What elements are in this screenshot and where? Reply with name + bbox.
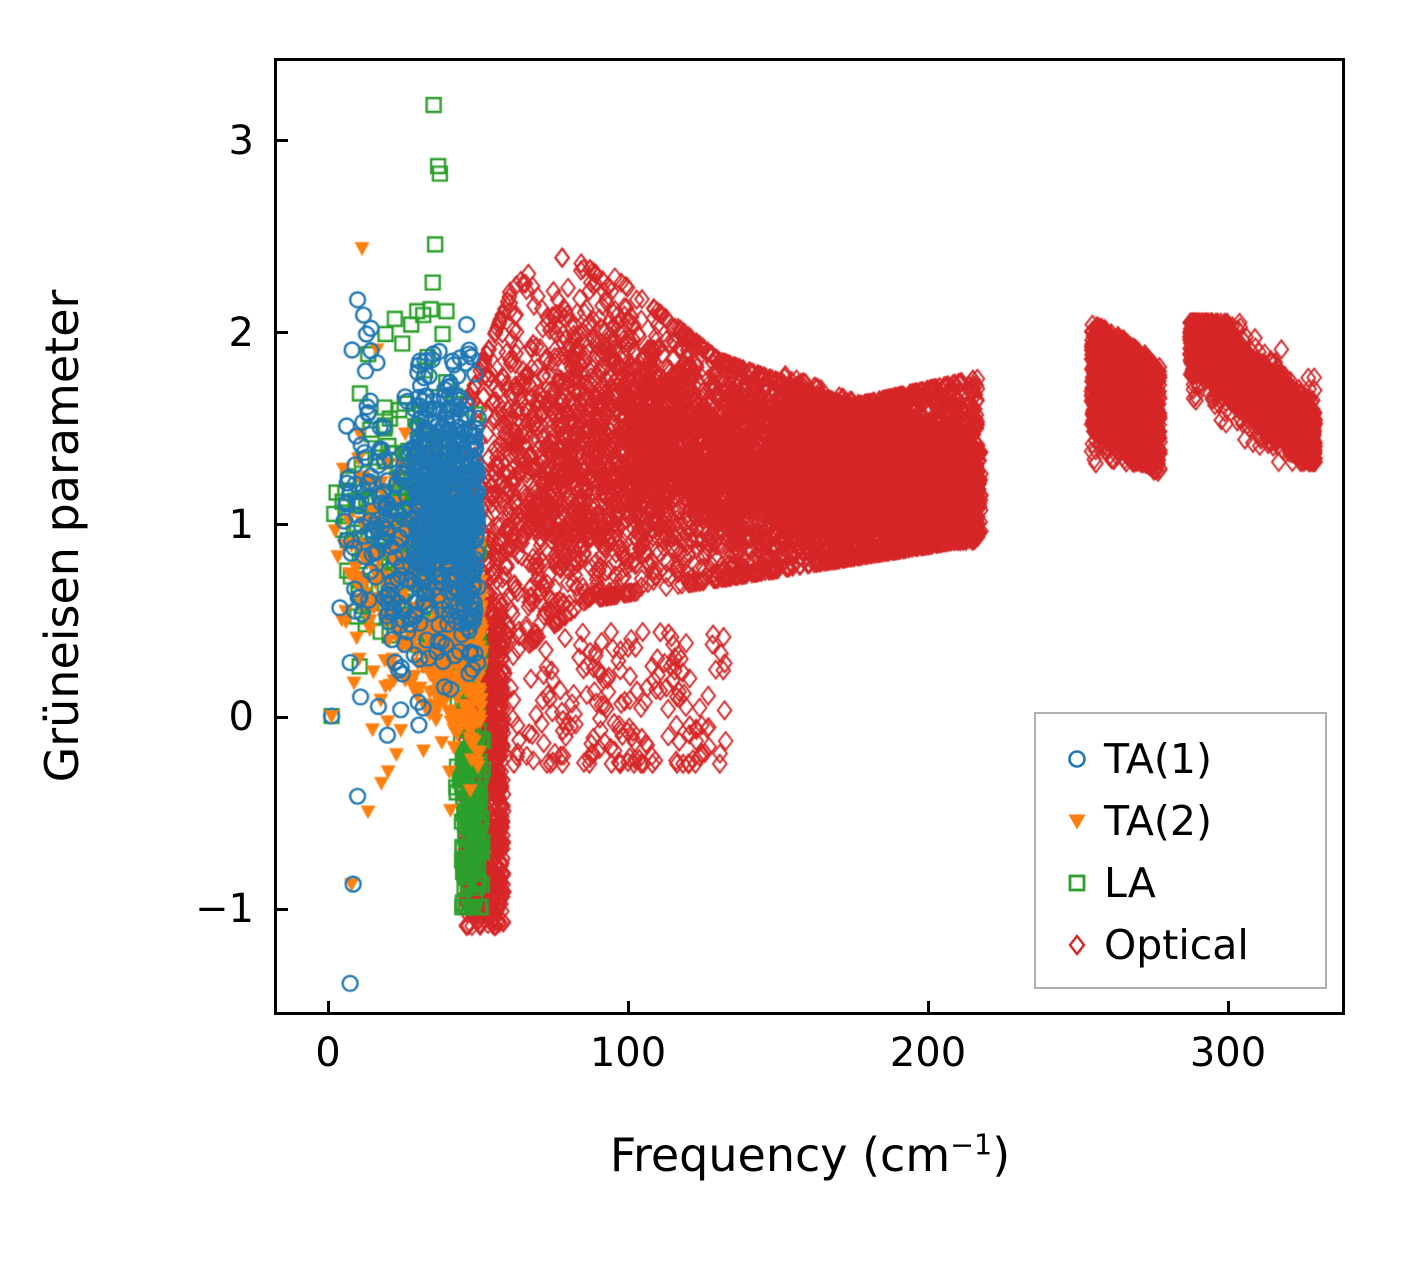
y-tick-label: 2 xyxy=(229,313,254,353)
x-tick-mark xyxy=(327,1001,330,1015)
y-tick-label: 3 xyxy=(229,121,254,161)
x-axis-label-main: Frequency (cm xyxy=(610,1128,950,1182)
x-tick-mark xyxy=(1227,1001,1230,1015)
y-tick-label: 1 xyxy=(229,505,254,545)
y-tick-mark xyxy=(274,523,288,526)
legend-entry: TA(2) xyxy=(1036,790,1325,852)
legend-label: LA xyxy=(1104,859,1156,907)
y-tick-mark xyxy=(274,908,288,911)
diamond-marker-icon xyxy=(1054,932,1100,958)
x-tick-label: 100 xyxy=(590,1033,666,1073)
y-tick-label: 0 xyxy=(229,697,254,737)
y-tick-mark xyxy=(274,331,288,334)
legend-label: Optical xyxy=(1104,921,1249,969)
legend-label: TA(1) xyxy=(1104,735,1212,783)
x-tick-mark xyxy=(627,1001,630,1015)
circle-marker-icon xyxy=(1054,746,1100,772)
x-axis-label-exponent: −1 xyxy=(950,1129,992,1162)
x-tick-label: 0 xyxy=(315,1033,340,1073)
grueneisen-scatter-figure: 0100200300 −10123 Frequency (cm−1) Grüne… xyxy=(0,0,1406,1264)
triangle-down-marker-icon xyxy=(1054,808,1100,834)
x-axis-label: Frequency (cm−1) xyxy=(610,1128,1010,1182)
y-tick-label: −1 xyxy=(195,889,254,929)
x-axis-label-suffix: ) xyxy=(992,1128,1010,1182)
square-marker-icon xyxy=(1054,870,1100,896)
x-tick-label: 300 xyxy=(1190,1033,1266,1073)
x-tick-mark xyxy=(927,1001,930,1015)
legend-label: TA(2) xyxy=(1104,797,1212,845)
x-tick-label: 200 xyxy=(890,1033,966,1073)
legend: TA(1)TA(2)LAOptical xyxy=(1034,712,1327,989)
y-axis-label: Grüneisen parameter xyxy=(35,290,89,783)
y-tick-mark xyxy=(274,716,288,719)
y-tick-mark xyxy=(274,139,288,142)
legend-entry: TA(1) xyxy=(1036,728,1325,790)
legend-entry: LA xyxy=(1036,852,1325,914)
legend-entry: Optical xyxy=(1036,914,1325,976)
